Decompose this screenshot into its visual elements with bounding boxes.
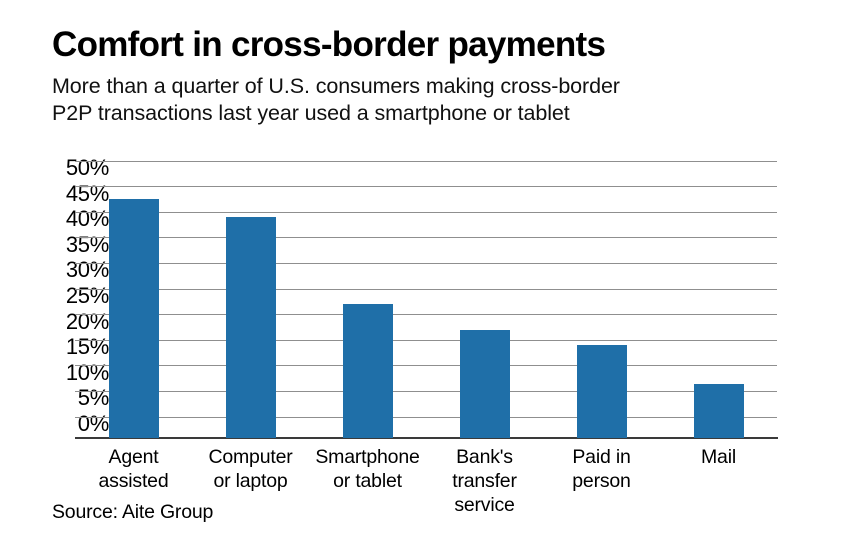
x-axis-category-label-line: Bank's xyxy=(426,445,543,469)
bar-slot xyxy=(309,161,426,438)
x-axis-category-label-line: Smartphone xyxy=(309,445,426,469)
x-axis-category-label: Computeror laptop xyxy=(192,445,309,493)
source-note: Source: Aite Group xyxy=(52,500,213,524)
x-axis-category-label: Smartphoneor tablet xyxy=(309,445,426,493)
bar[interactable] xyxy=(460,330,510,438)
bar-slot xyxy=(75,161,192,438)
bar[interactable] xyxy=(694,384,744,438)
bar-chart: 50%45%40%35%30%25%20%15%10%5%0% Agentass… xyxy=(0,0,844,550)
x-axis-category-label: Bank'stransferservice xyxy=(426,445,543,517)
x-axis-category-label: Mail xyxy=(660,445,777,469)
x-axis-category-label: Agentassisted xyxy=(75,445,192,493)
bar-series xyxy=(75,161,777,438)
x-axis-category-label-line: Agent xyxy=(75,445,192,469)
x-axis-category-label-line: Paid in xyxy=(543,445,660,469)
x-axis-category-label-line: Computer xyxy=(192,445,309,469)
bar[interactable] xyxy=(343,304,393,437)
chart-page: Comfort in cross-border payments More th… xyxy=(0,0,844,550)
x-axis-category-label-line: assisted xyxy=(75,469,192,493)
bar-slot xyxy=(426,161,543,438)
x-axis-category-label-line: or laptop xyxy=(192,469,309,493)
x-axis-category-label-line: or tablet xyxy=(309,469,426,493)
bar[interactable] xyxy=(109,199,159,437)
x-axis-category-label: Paid inperson xyxy=(543,445,660,493)
x-axis-category-label-line: service xyxy=(426,493,543,517)
bar[interactable] xyxy=(577,345,627,437)
bar-slot xyxy=(192,161,309,438)
bar-slot xyxy=(660,161,777,438)
x-axis-category-label-line: transfer xyxy=(426,469,543,493)
x-axis-category-label-line: Mail xyxy=(660,445,777,469)
x-axis-category-label-line: person xyxy=(543,469,660,493)
bar[interactable] xyxy=(226,217,276,437)
bar-slot xyxy=(543,161,660,438)
